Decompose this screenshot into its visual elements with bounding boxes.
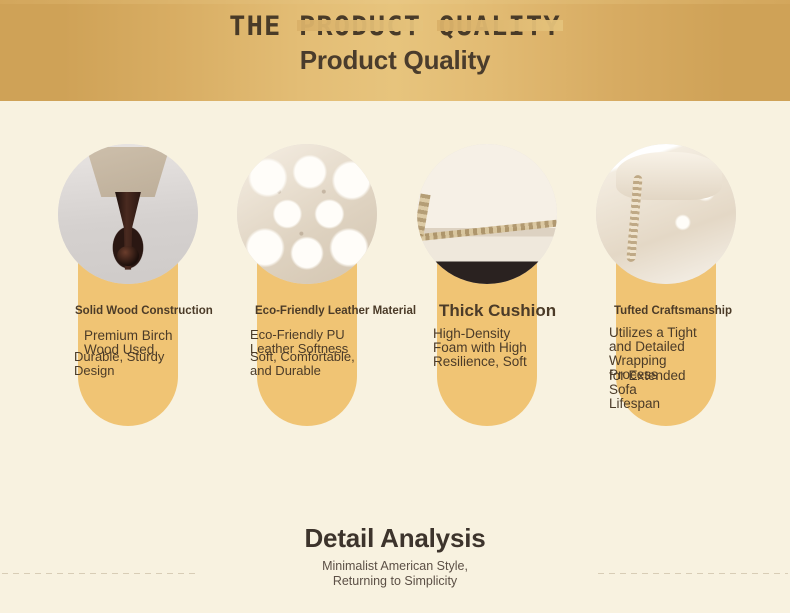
page-header: THE PRODUCT QUALITY Product Quality: [0, 0, 790, 101]
photo-inner: [417, 144, 557, 284]
footer-subtitle: Minimalist American Style, Returning to …: [0, 559, 790, 589]
feature-card-tufted-craftsmanship: Tufted Craftsmanship Utilizes a Tight an…: [616, 145, 716, 426]
footer-title: Detail Analysis: [0, 523, 790, 554]
card-title: Tufted Craftsmanship: [614, 305, 732, 317]
header-outline-part-1: THE: [229, 11, 299, 42]
card-body-line-1: High-Density Foam with High Resilience, …: [433, 327, 527, 369]
feature-card-eco-leather: Eco-Friendly Leather Material Eco-Friend…: [257, 145, 357, 426]
photo-inner: [237, 144, 377, 284]
header-outline-title: THE PRODUCT QUALITY: [0, 11, 790, 42]
feature-card-row: Solid Wood Construction Premium Birch Wo…: [0, 101, 790, 461]
header-outline-part-2: PRODUCT: [299, 11, 421, 42]
sofa-wood-leg-photo: [58, 144, 198, 284]
header-subtitle: Product Quality: [0, 45, 790, 76]
header-top-band: [0, 0, 790, 4]
card-title: Eco-Friendly Leather Material: [255, 305, 416, 317]
page-footer: Detail Analysis Minimalist American Styl…: [0, 461, 790, 613]
feature-card-solid-wood: Solid Wood Construction Premium Birch Wo…: [78, 145, 178, 426]
tufted-armrest-photo: [596, 144, 736, 284]
tufted-leather-photo: [237, 144, 377, 284]
photo-leg-knob: [117, 246, 139, 266]
card-body-line-2: Durable, Sturdy Design: [74, 350, 164, 378]
card-body-line-2: for Extended Sofa Lifespan: [609, 369, 716, 411]
card-title: Thick Cushion: [439, 301, 556, 321]
header-outline-part-4: QUALITY: [439, 11, 561, 42]
thick-cushion-photo: [417, 144, 557, 284]
card-body-line-2: Soft, Comfortable, and Durable: [250, 350, 355, 378]
feature-card-thick-cushion: Thick Cushion High-Density Foam with Hig…: [437, 145, 537, 426]
card-title: Solid Wood Construction: [75, 305, 213, 317]
